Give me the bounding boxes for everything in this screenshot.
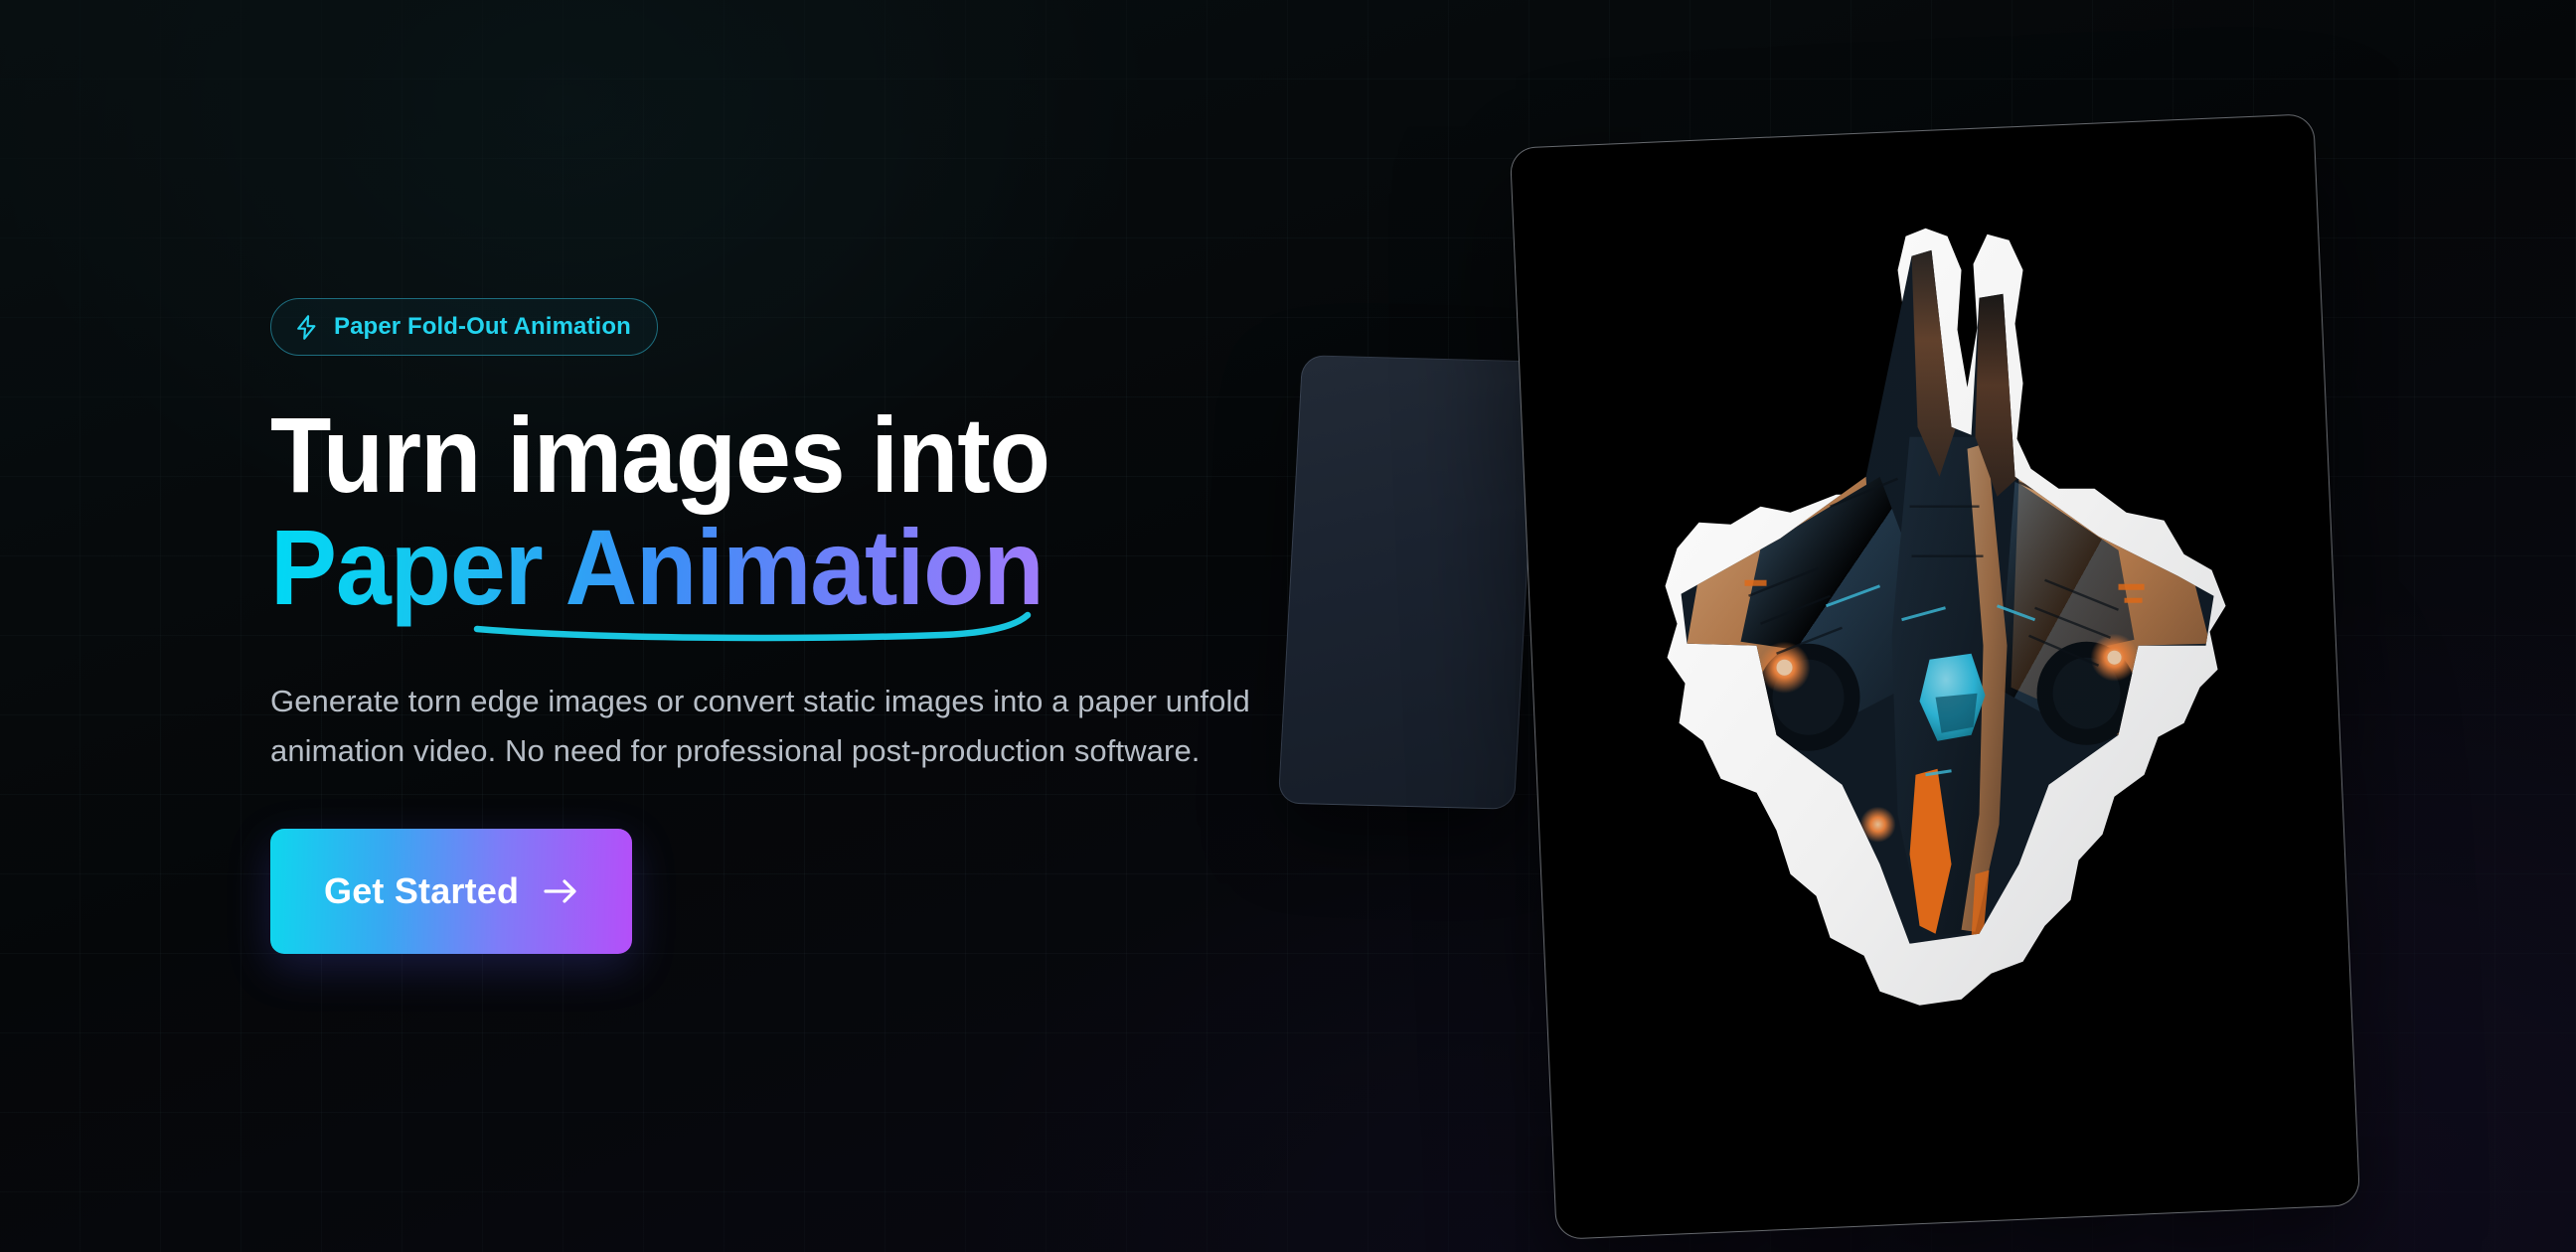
feature-badge-label: Paper Fold-Out Animation [334,313,631,341]
feature-badge[interactable]: Paper Fold-Out Animation [270,298,658,356]
torn-paper-spacecraft [1582,179,2298,1014]
get-started-button[interactable]: Get Started [270,829,632,954]
headline-line-1: Turn images into [270,399,1250,511]
hero-visual [1282,0,2576,1252]
arrow-right-icon [543,876,578,906]
hero-text-column: Paper Fold-Out Animation Turn images int… [270,0,1324,1252]
headline-underline-swoosh [475,613,1032,647]
paper-card-front[interactable] [1510,113,2360,1240]
hero-description: Generate torn edge images or convert sta… [270,677,1274,776]
headline-line-2: Paper Animation [270,512,1250,627]
hero-section: Paper Fold-Out Animation Turn images int… [0,0,2576,1252]
page-title: Turn images into Paper Animation [270,399,1250,627]
lightning-bolt-icon [293,314,320,341]
get-started-label: Get Started [324,870,519,912]
